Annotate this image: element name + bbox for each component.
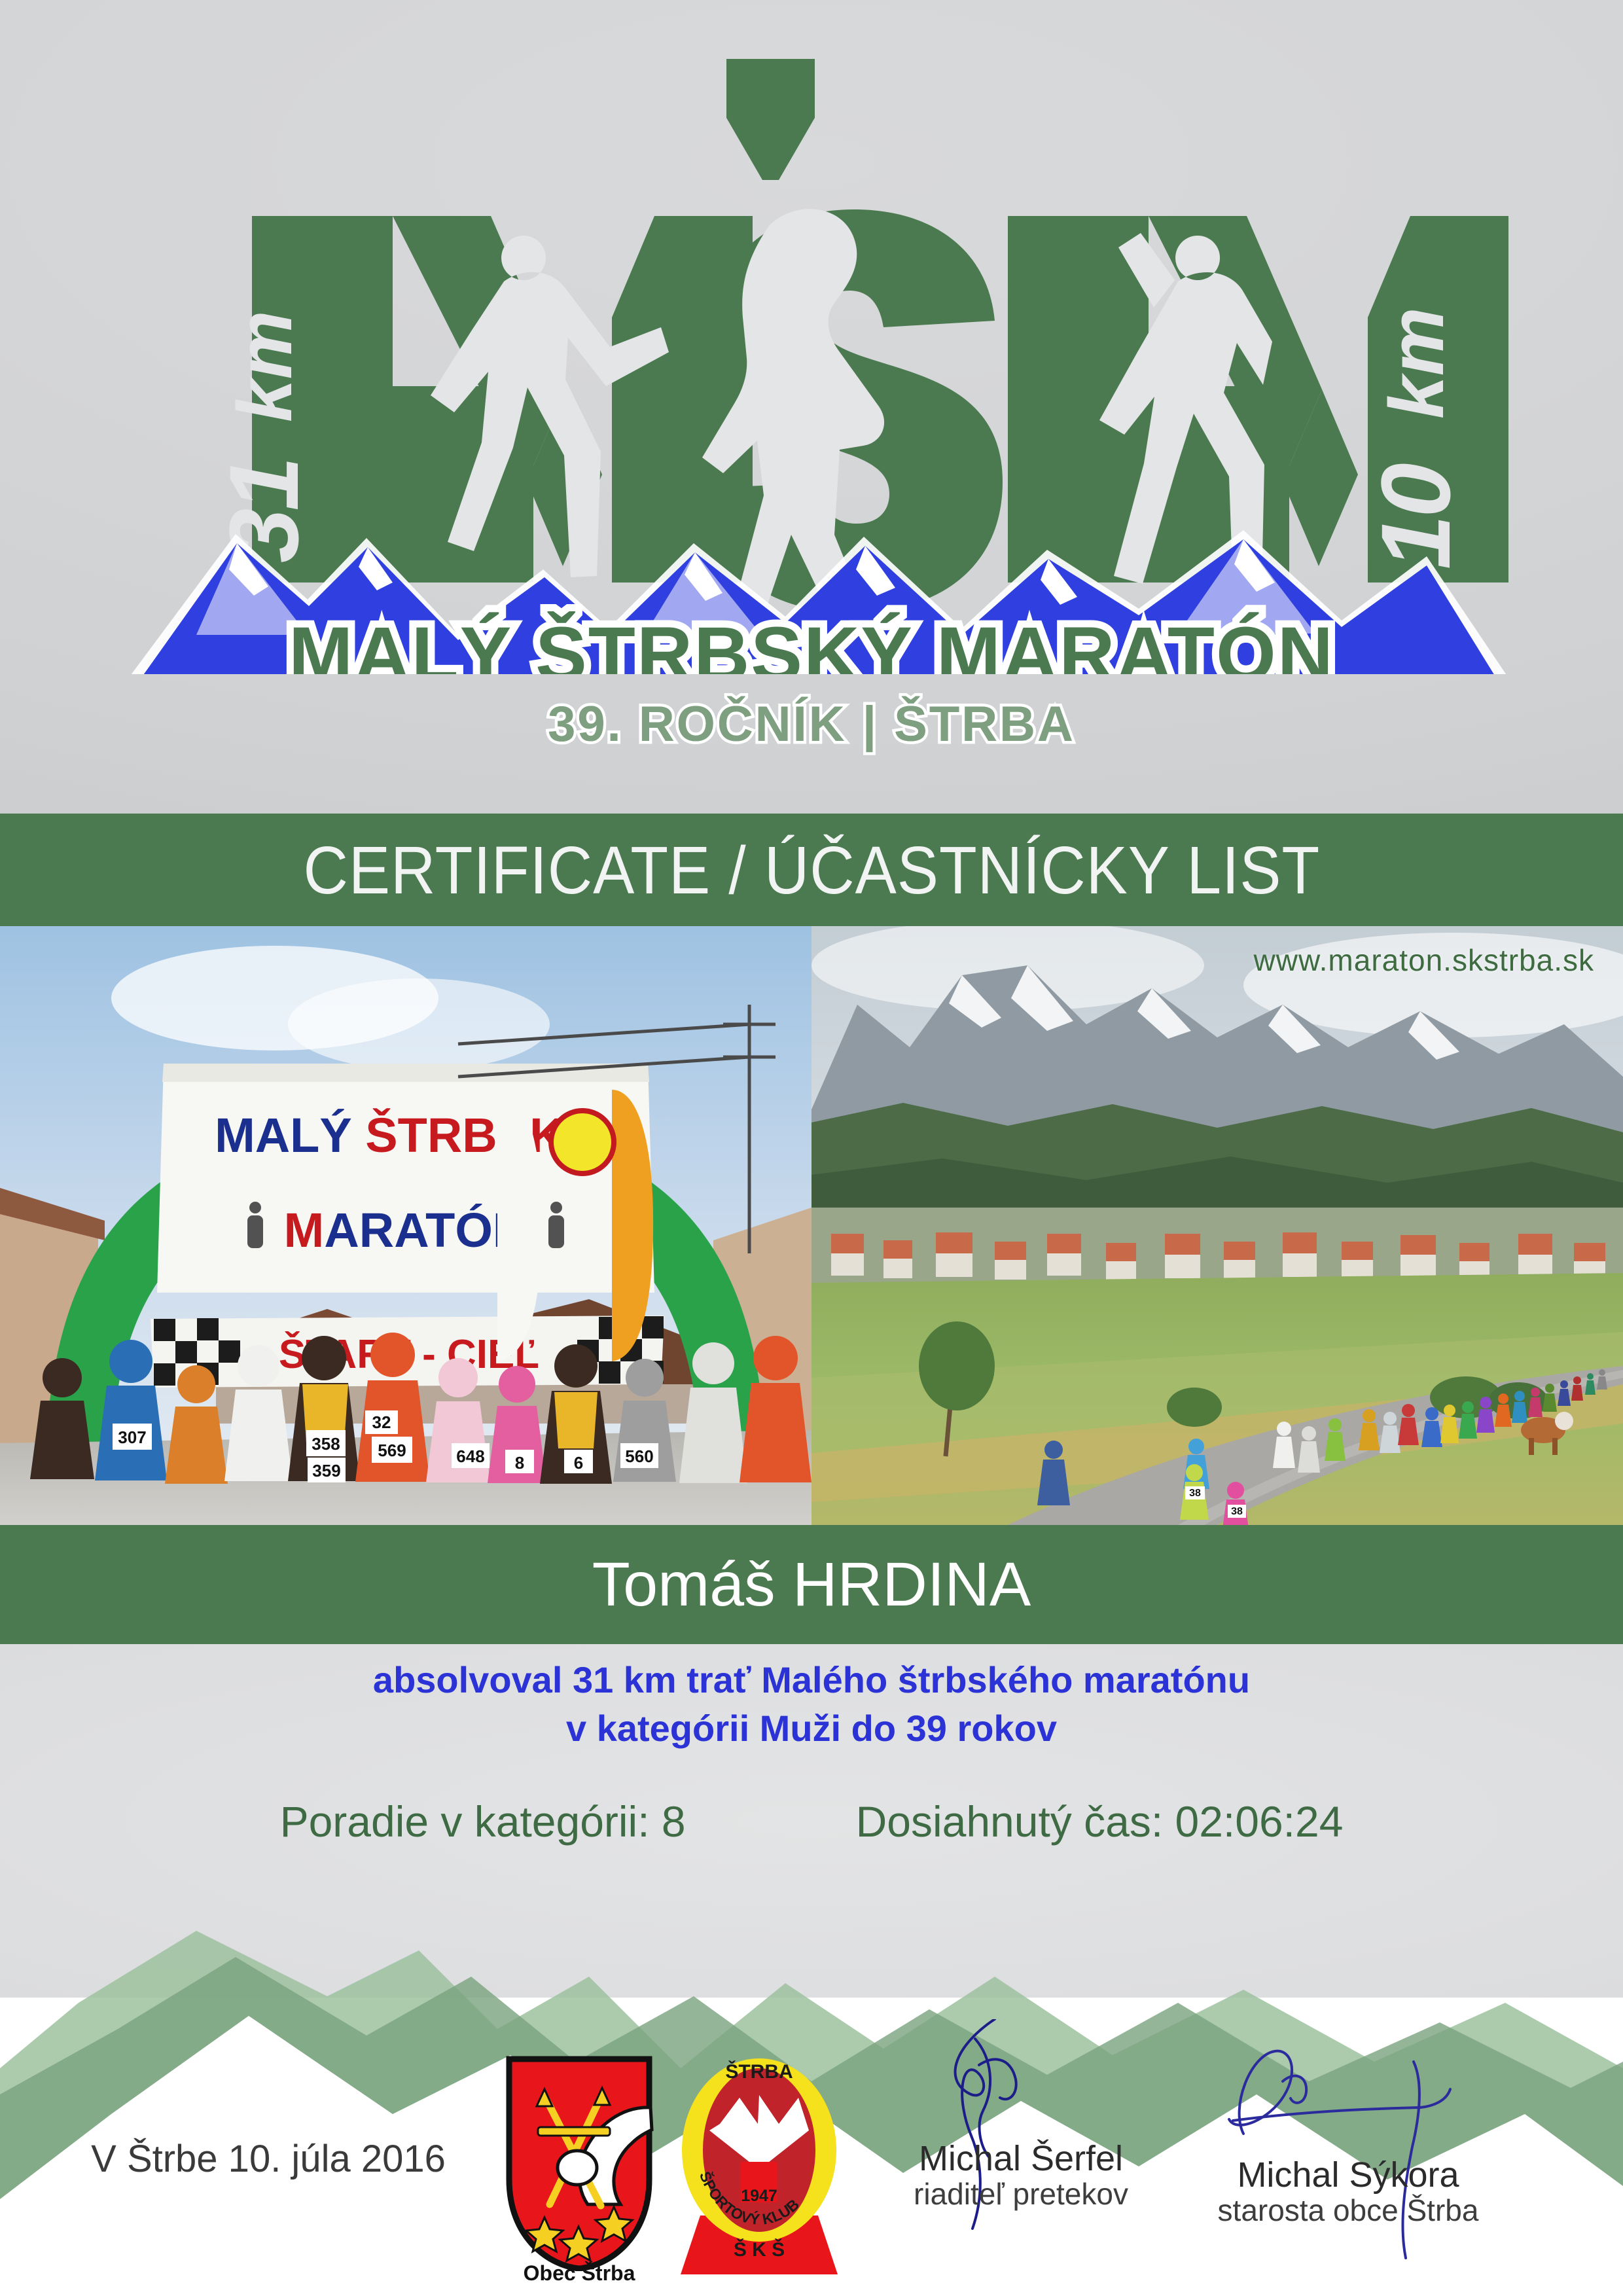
results-row: Poradie v kategórii: 8 Dosiahnutý čas: 0… [0, 1797, 1623, 1846]
caron-mark [726, 59, 815, 180]
svg-text:km: km [222, 310, 308, 422]
signatory-1-name: Michal Šerfel [851, 2140, 1191, 2178]
sks-club-logo-icon: ŠTRBA 1947 Š K Š ŠPORTOVÝ KLUB [681, 2052, 838, 2274]
edition-line: 39. ROČNÍK | ŠTRBA [0, 696, 1623, 753]
signatory-1-role: riaditeľ pretekov [851, 2178, 1191, 2211]
sks-bottom-text: Š K Š [734, 2238, 785, 2261]
achievement-line-1: absolvoval 31 km trať Malého štrbského m… [0, 1656, 1623, 1704]
svg-text:32: 32 [372, 1412, 391, 1432]
signatory-2: Michal Sýkora starosta obce Štrba [1178, 2157, 1518, 2227]
signature-sykora [1224, 2029, 1472, 2265]
finish-time: Dosiahnutý čas: 02:06:24 [856, 1797, 1344, 1846]
svg-text:6: 6 [574, 1453, 583, 1473]
participant-name: Tomáš HRDINA [592, 1554, 1031, 1616]
certificate-title-band: CERTIFICATE / ÚČASTNÍCKY LIST [0, 814, 1623, 926]
photo-strip: MALÝ ŠTRBSKÝ MARATÓN [0, 926, 1623, 1525]
photo-course-landscape: 38 38 www.maraton.skstrba.sk [811, 926, 1623, 1525]
svg-text:38: 38 [1189, 1488, 1201, 1499]
svg-text:31: 31 [209, 459, 319, 563]
svg-text:359: 359 [312, 1461, 340, 1480]
signatory-1: Michal Šerfel riaditeľ pretekov [851, 2140, 1191, 2210]
msm-logo: 31 km [0, 20, 1623, 674]
svg-text:km: km [1374, 307, 1460, 419]
category-rank: Poradie v kategórii: 8 [280, 1797, 686, 1846]
svg-text:560: 560 [625, 1446, 653, 1466]
place-and-date: V Štrbe 10. júla 2016 [59, 2137, 478, 2181]
achievement-line-2: v kategórii Muži do 39 rokov [0, 1704, 1623, 1753]
certificate-title: CERTIFICATE / ÚČASTNÍCKY LIST [303, 836, 1320, 904]
achievement-description: absolvoval 31 km trať Malého štrbského m… [0, 1656, 1623, 1753]
svg-text:MARATÓN: MARATÓN [284, 1203, 528, 1257]
participant-name-band: Tomáš HRDINA [0, 1525, 1623, 1644]
svg-text:10: 10 [1361, 464, 1471, 569]
svg-text:569: 569 [378, 1441, 406, 1460]
svg-text:307: 307 [118, 1427, 146, 1447]
website-url[interactable]: www.maraton.skstrba.sk [1254, 942, 1594, 978]
signatory-2-name: Michal Sýkora [1178, 2157, 1518, 2194]
obec-strba-crest-icon [504, 2055, 654, 2271]
svg-text:38: 38 [1231, 1506, 1243, 1517]
svg-text:MALÝ ŠTRBSKÝ: MALÝ ŠTRBSKÝ [215, 1108, 597, 1162]
obec-strba-label: Obec Štrba [488, 2261, 671, 2286]
svg-text:8: 8 [515, 1453, 524, 1473]
signatory-2-role: starosta obce Štrba [1178, 2194, 1518, 2227]
svg-text:358: 358 [312, 1434, 340, 1454]
svg-text:648: 648 [456, 1446, 484, 1466]
sks-top-text: ŠTRBA [725, 2060, 793, 2083]
certificate-page: 31 km [0, 0, 1623, 2296]
photo-start-line: MALÝ ŠTRBSKÝ MARATÓN [0, 926, 811, 1525]
sks-year: 1947 [741, 2187, 777, 2205]
event-name-text: MALÝ ŠTRBSKÝ MARATÓN [289, 611, 1334, 674]
